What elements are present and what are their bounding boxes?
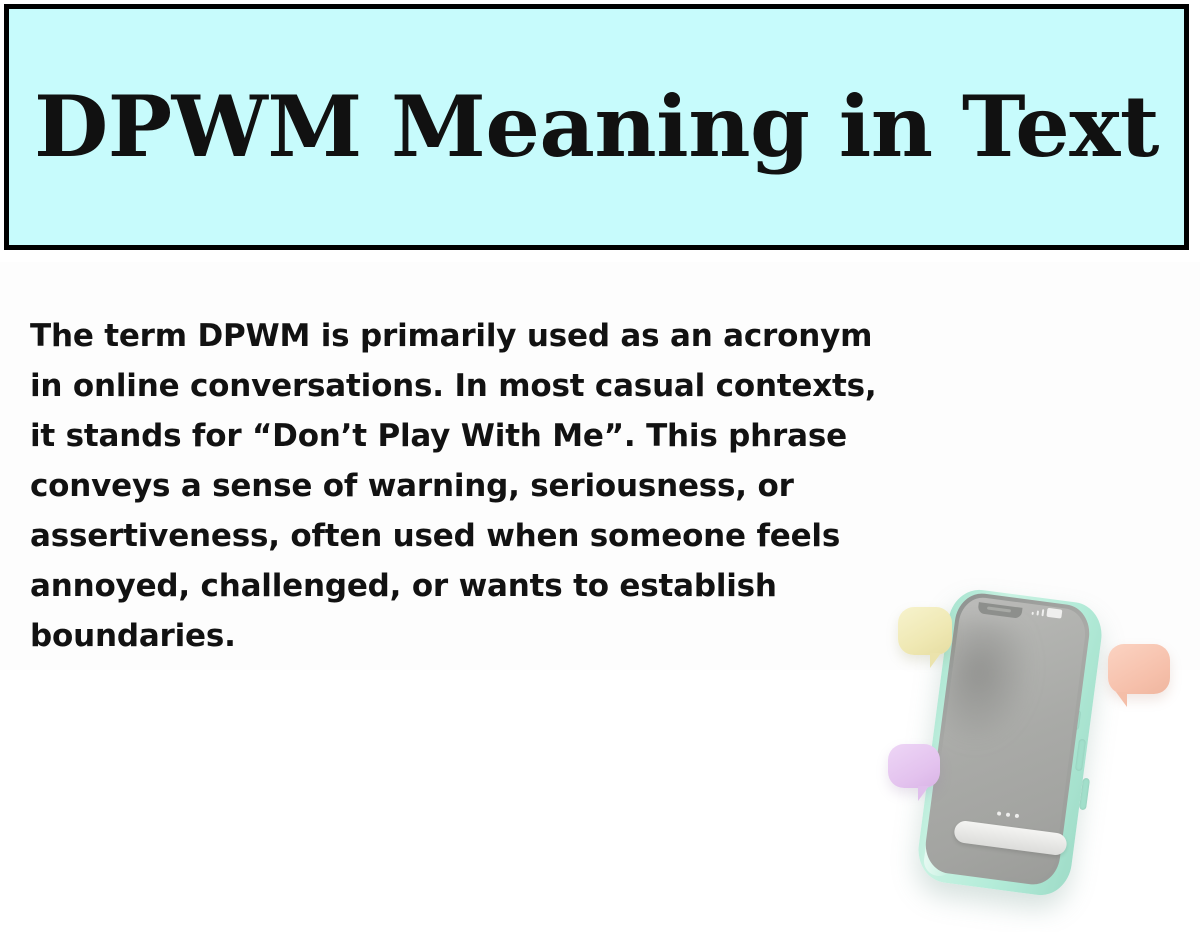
purple-chat-bubble-body <box>888 744 940 788</box>
page-title: DPWM Meaning in Text <box>34 85 1159 169</box>
purple-chat-bubble-tail <box>918 786 933 801</box>
yellow-chat-bubble-tail <box>930 653 945 668</box>
typing-dot <box>997 811 1001 815</box>
purple-chat-bubble <box>888 744 940 788</box>
battery-icon <box>1046 608 1062 619</box>
body-paragraph: The term DPWM is primarily used as an ac… <box>30 311 890 661</box>
signal-icon <box>1041 609 1044 616</box>
pink-chat-bubble-body <box>1108 644 1170 694</box>
signal-icon <box>1031 612 1033 615</box>
pink-chat-bubble-tail <box>1112 692 1127 707</box>
typing-dot <box>1006 812 1010 816</box>
signal-icon <box>1036 610 1039 615</box>
content-area: The term DPWM is primarily used as an ac… <box>0 262 1200 670</box>
pink-chat-bubble <box>1108 644 1170 694</box>
yellow-chat-bubble <box>898 607 952 655</box>
phone-illustration <box>880 562 1200 932</box>
yellow-chat-bubble-body <box>898 607 952 655</box>
typing-dot <box>1015 814 1019 818</box>
header-banner: DPWM Meaning in Text <box>4 4 1189 250</box>
